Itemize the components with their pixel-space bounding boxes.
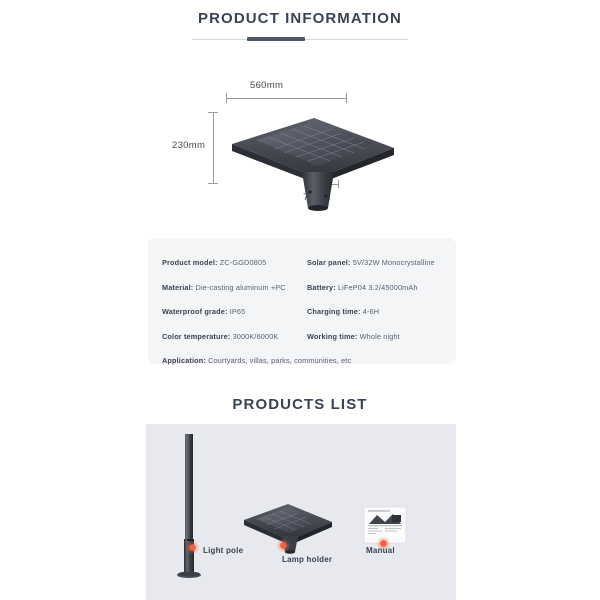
dimension-width-tick-left (226, 93, 227, 103)
spec-key: Working time: (307, 332, 360, 341)
light-pole-illustration (176, 432, 202, 582)
spec-value: LiFeP04 3.2/45000mAh (338, 283, 418, 292)
spec-key: Charging time: (307, 307, 363, 316)
hotspot-dot-light-pole[interactable] (186, 541, 199, 554)
spec-row: Waterproof grade: IP65 (162, 300, 307, 325)
spec-key: Solar panel: (307, 258, 353, 267)
spec-value: Die-casting aluminum +PC (196, 283, 286, 292)
dimension-width-line (226, 98, 346, 99)
product-label-manual: Manual (366, 546, 395, 555)
hotspot-dot-lamp-holder[interactable] (277, 539, 290, 552)
spec-key: Battery: (307, 283, 338, 292)
product-dimension-diagram: 560mm 230mm 76mm (0, 62, 600, 217)
spec-row: Working time: Whole night (307, 325, 442, 350)
specifications-grid: Product model: ZC-GGD0805 Solar panel: 5… (162, 251, 442, 374)
spec-key: Material: (162, 283, 196, 292)
spec-row-application: Application: Courtyards, villas, parks, … (162, 349, 442, 374)
products-list-title: PRODUCTS LIST (232, 396, 367, 413)
dimension-width-tick-right (346, 93, 347, 103)
solar-lamp-illustration (222, 104, 402, 214)
spec-value: 5V/32W Monocrystalline (353, 258, 435, 267)
page-title: PRODUCT INFORMATION (198, 10, 402, 27)
spec-row: Color temperature: 3000K/6000K (162, 325, 307, 350)
spec-row: Charging time: 4-6H (307, 300, 442, 325)
spec-value: IP65 (230, 307, 246, 316)
dimension-height-tick-bottom (208, 183, 218, 184)
spec-value: Whole night (360, 332, 400, 341)
dimension-height-tick-top (208, 112, 218, 113)
product-label-light-pole: Light pole (203, 546, 243, 555)
spec-value: ZC-GGD0805 (220, 258, 267, 267)
spec-key: Waterproof grade: (162, 307, 230, 316)
product-information-heading: PRODUCT INFORMATION (0, 10, 600, 45)
spec-key: Application: (162, 356, 208, 365)
products-list-heading: PRODUCTS LIST (0, 396, 600, 414)
spec-row: Material: Die-casting aluminum +PC (162, 276, 307, 301)
spec-row: Product model: ZC-GGD0805 (162, 251, 307, 276)
spec-value: 4-6H (363, 307, 379, 316)
spec-value: 3000K/6000K (233, 332, 279, 341)
dimension-height-line (213, 112, 214, 184)
heading-rule (192, 35, 408, 45)
dimension-height-label: 230mm (172, 140, 205, 151)
product-label-lamp-holder: Lamp holder (282, 555, 332, 564)
heading-rule-accent (247, 37, 305, 41)
spec-row: Solar panel: 5V/32W Monocrystalline (307, 251, 442, 276)
spec-value: Courtyards, villas, parks, communities, … (208, 356, 351, 365)
spec-row: Battery: LiFeP04 3.2/45000mAh (307, 276, 442, 301)
spec-key: Color temperature: (162, 332, 233, 341)
dimension-width-label: 560mm (250, 80, 283, 91)
specifications-panel: Product model: ZC-GGD0805 Solar panel: 5… (148, 238, 456, 364)
spec-key: Product model: (162, 258, 220, 267)
